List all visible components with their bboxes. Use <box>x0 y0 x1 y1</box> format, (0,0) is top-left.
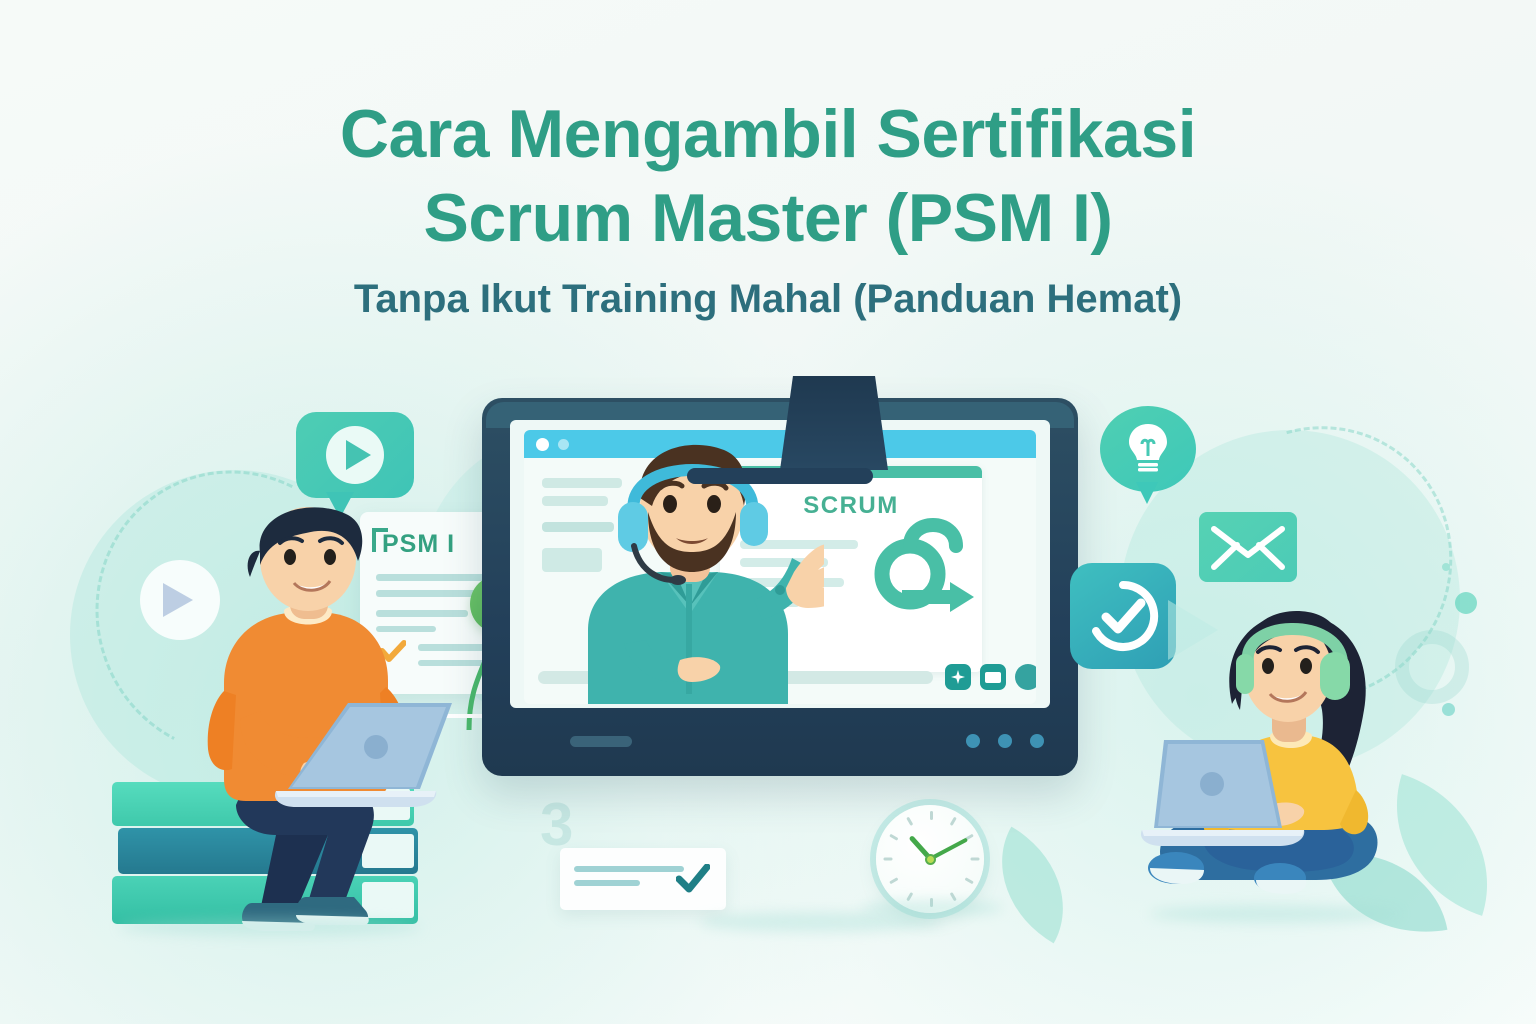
lightbulb-bubble-tail <box>1136 482 1158 504</box>
play-bubble-body <box>296 412 414 498</box>
poster-heading-block: Cara Mengambil Sertifikasi Scrum Master … <box>0 92 1536 324</box>
clock-tick <box>930 811 933 820</box>
student-male <box>180 505 460 935</box>
student-female <box>1120 600 1440 930</box>
monitor-slot <box>570 736 632 747</box>
clock-tick <box>971 858 980 861</box>
clock-center-pin <box>925 854 936 865</box>
envelope-glyph <box>1211 523 1285 571</box>
ground-shadow-books <box>120 918 420 936</box>
monitor-screen: SCRUM <box>510 420 1050 708</box>
monitor-stand-base <box>687 468 873 484</box>
clock-tick <box>884 858 893 861</box>
lightbulb-bubble[interactable] <box>1100 406 1196 504</box>
page-title-line-2: Scrum Master (PSM I) <box>0 176 1536 260</box>
bg-dot-3 <box>1442 703 1455 716</box>
page-subtitle: Tanpa Ikut Training Mahal (Panduan Hemat… <box>0 274 1536 324</box>
bg-dot-1 <box>1455 592 1477 614</box>
circle-icon[interactable] <box>1015 664 1036 690</box>
task-check-icon <box>676 864 710 894</box>
subtitle-icon[interactable] <box>980 664 1006 690</box>
task-card-line <box>574 880 640 886</box>
monitor-dot <box>966 734 980 748</box>
ground-shadow-clock <box>862 900 1002 916</box>
ground-shadow-woman <box>1150 905 1400 923</box>
task-complete-card <box>560 848 726 910</box>
monitor-dot <box>1030 734 1044 748</box>
sparkle-icon[interactable] <box>945 664 971 690</box>
clock-tick <box>889 877 898 884</box>
lightbulb-bubble-body <box>1100 406 1196 492</box>
analog-clock <box>876 805 984 913</box>
clock-tick <box>950 817 957 826</box>
monitor-chin <box>482 710 1078 776</box>
clock-tick <box>965 877 974 884</box>
task-card-line <box>574 866 684 872</box>
lightbulb-icon <box>1127 422 1169 476</box>
clock-tick <box>906 817 913 826</box>
envelope-icon[interactable] <box>1199 512 1297 582</box>
clock-tick <box>889 834 898 841</box>
window-dot-white[interactable] <box>536 438 549 451</box>
poster-canvas: 3 Cara Mengambil Sertifikasi Scrum Maste… <box>0 0 1536 1024</box>
sprint-cycle-arrow-icon <box>864 512 974 622</box>
bg-dot-2 <box>1442 563 1450 571</box>
bg-leaf-center <box>971 827 1093 944</box>
play-bubble[interactable] <box>296 412 414 510</box>
monitor-indicator-dots <box>966 734 1044 748</box>
play-icon-ring <box>326 426 384 484</box>
monitor: SCRUM <box>482 398 1078 776</box>
monitor-dot <box>998 734 1012 748</box>
page-title-line-1: Cara Mengambil Sertifikasi <box>0 92 1536 176</box>
play-icon <box>346 440 371 470</box>
monitor-stand-neck <box>780 376 888 470</box>
